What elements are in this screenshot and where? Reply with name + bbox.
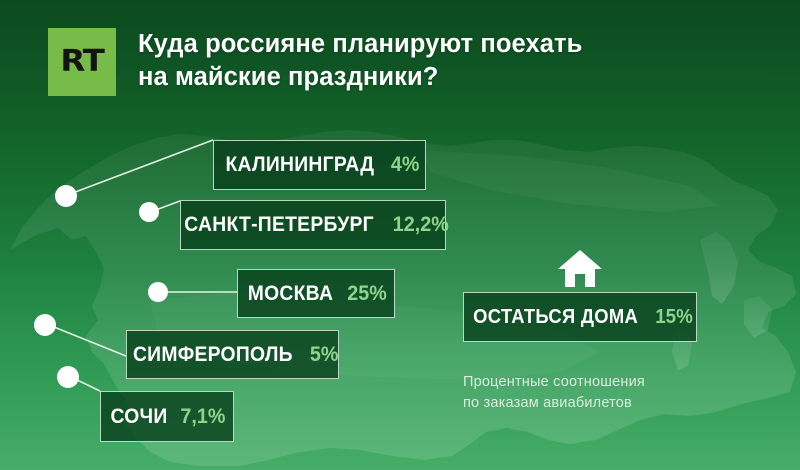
city-name: КАЛИНИНГРАД: [225, 153, 374, 177]
option-name: ОСТАТЬСЯ ДОМА: [473, 306, 638, 329]
footnote-line-2: по заказам авиабилетов: [463, 393, 645, 414]
connector-line-kaliningrad: [70, 140, 213, 194]
data-label-saint-petersburg: САНКТ-ПЕТЕРБУРГ 12,2%: [180, 200, 446, 250]
map-dot-kaliningrad: [55, 185, 77, 207]
map-dot-moscow: [148, 282, 168, 302]
page-title-line-2: на майские праздники?: [138, 61, 582, 94]
percent-value: 5%: [310, 343, 339, 367]
percent-value: 25%: [347, 282, 387, 306]
rt-logo-text: RT: [60, 47, 103, 77]
map-dot-simferopol: [34, 314, 56, 336]
footnote-line-1: Процентные соотношения: [463, 372, 645, 393]
map-dot-spb: [139, 202, 159, 222]
page-title: Куда россияне планируют поехать на майск…: [138, 28, 582, 93]
percent-value: 12,2%: [393, 213, 449, 237]
percent-value: 7,1%: [180, 405, 225, 429]
footnote: Процентные соотношения по заказам авиаби…: [463, 372, 645, 414]
rt-logo: RT: [48, 28, 116, 96]
connector-line-spb: [153, 201, 180, 211]
connector-line-simferopol: [49, 325, 126, 356]
city-name: МОСКВА: [248, 282, 333, 306]
data-label-kaliningrad: КАЛИНИНГРАД 4%: [213, 140, 426, 190]
percent-value: 4%: [391, 153, 420, 177]
data-label-stay-home: ОСТАТЬСЯ ДОМА 15%: [463, 292, 697, 342]
header: RT Куда россияне планируют поехать на ма…: [48, 28, 582, 96]
connector-line-sochi: [71, 377, 100, 391]
data-label-sochi: СОЧИ 7,1%: [100, 391, 234, 442]
house-icon: [557, 248, 603, 288]
city-name: САНКТ-ПЕТЕРБУРГ: [184, 213, 374, 237]
percent-value: 15%: [655, 306, 693, 329]
infographic-poster: RT Куда россияне планируют поехать на ма…: [0, 0, 800, 470]
city-name: СИМФЕРОПОЛЬ: [133, 343, 293, 367]
page-title-line-1: Куда россияне планируют поехать: [138, 28, 582, 61]
city-name: СОЧИ: [110, 405, 167, 429]
data-label-moscow: МОСКВА 25%: [237, 269, 395, 318]
map-dot-sochi: [57, 366, 79, 388]
data-label-simferopol: СИМФЕРОПОЛЬ 5%: [126, 330, 339, 379]
